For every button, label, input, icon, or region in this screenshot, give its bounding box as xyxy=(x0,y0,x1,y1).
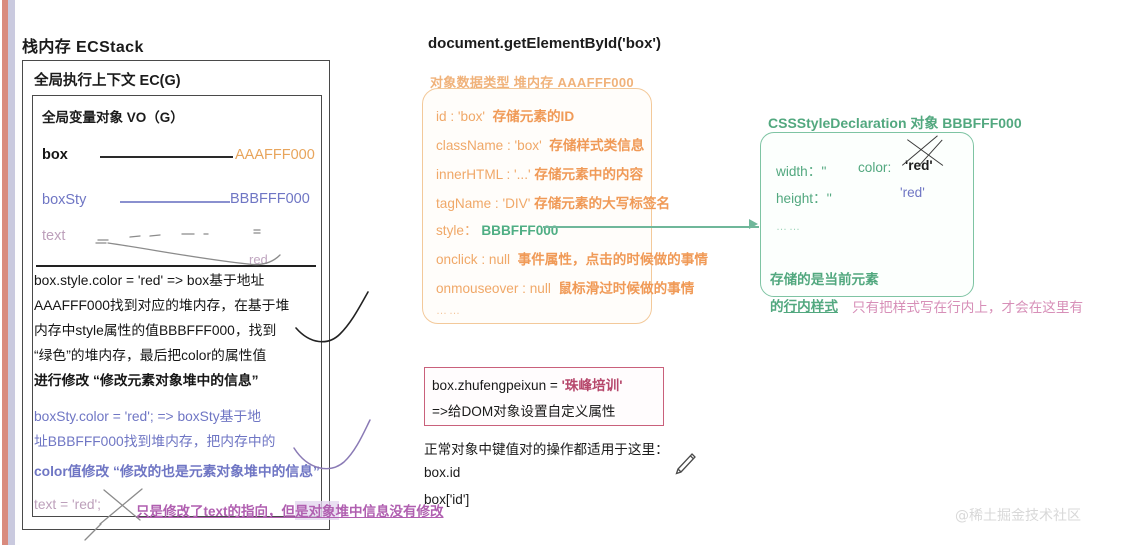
heap-row-innerhtml-desc: 存储元素中的内容 xyxy=(534,167,643,182)
css-color-key: color: xyxy=(858,160,891,175)
css-color-new-value: 'red' xyxy=(900,185,925,200)
heap-row-id-key: id : 'box' xyxy=(436,109,485,124)
variable-box-connector-line xyxy=(100,156,233,158)
heap-row-tagname-key: tagName : 'DIV' xyxy=(436,196,530,211)
heap-row-style-key: style： xyxy=(436,223,478,238)
heap-row-innerhtml-key: innerHTML : '...' xyxy=(436,167,531,182)
keyvalue-intro-text: 正常对象中键值对的操作都适用于这里： xyxy=(424,438,669,458)
note-line-9: text = 'red'; xyxy=(34,492,101,518)
variable-boxsty-address: BBBFFF000 xyxy=(230,191,310,207)
custom-attribute-code-key: box.zhufengpeixun = xyxy=(432,378,562,393)
execution-context-label: 全局执行上下文 EC(G) xyxy=(34,69,181,90)
left-edge-white-stripe xyxy=(15,0,20,545)
note-line-6: boxSty.color = 'red'; => boxSty基于地 xyxy=(34,404,261,430)
heap-row-onmouseover-desc: 鼠标滑过时候做的事情 xyxy=(558,281,694,296)
keyvalue-example-bracket: box['id'] xyxy=(424,492,469,507)
heap-row-tagname: tagName : 'DIV' 存储元素的大写标签名 xyxy=(436,192,670,212)
note-line-1: box.style.color = 'red' => box基于地址 xyxy=(34,268,264,294)
note-line-8: color值修改 “修改的也是元素对象堆中的信息” xyxy=(34,459,320,485)
pencil-icon xyxy=(672,450,698,478)
css-row-height: height：'' xyxy=(776,187,832,207)
css-row-width: width：'' xyxy=(776,160,827,180)
heap-row-onclick-desc: 事件属性，点击的时候做的事情 xyxy=(518,252,708,267)
note-line-2: AAAFFF000找到对应的堆内存，在基于堆 xyxy=(34,293,289,319)
custom-attribute-desc: =>给DOM对象设置自定义属性 xyxy=(432,400,616,420)
dom-get-element-call: document.getElementById('box') xyxy=(428,35,661,52)
heap-row-tagname-desc: 存储元素的大写标签名 xyxy=(534,196,670,211)
variable-box-name: box xyxy=(42,147,68,163)
custom-attribute-code-value: '珠峰培训' xyxy=(562,378,623,393)
variable-boxsty-name: boxSty xyxy=(42,192,86,208)
note-line-5: 进行修改 “修改元素对象堆中的信息” xyxy=(34,368,259,394)
style-to-css-connector-line xyxy=(543,226,759,228)
variable-box-address: AAAFFF000 xyxy=(235,147,315,163)
heap-row-innerhtml: innerHTML : '...' 存储元素中的内容 xyxy=(436,163,643,183)
heap-row-ellipsis: …… xyxy=(436,305,462,317)
css-row-ellipsis: …… xyxy=(776,221,802,233)
watermark-text: @稀土掘金技术社区 xyxy=(955,505,1081,525)
heap-row-classname: className : 'box' 存储样式类信息 xyxy=(436,134,644,154)
note-line-4: “绿色”的堆内存，最后把color的属性值 xyxy=(34,343,266,369)
css-note-underlined: 行内样式 xyxy=(784,299,838,314)
cssstyledeclaration-header: CSSStyleDeclaration 对象 BBBFFF000 xyxy=(768,113,1022,133)
variable-object-divider xyxy=(36,265,316,267)
css-note-prefix: 的 xyxy=(770,299,784,314)
heap-row-classname-key: className : 'box' xyxy=(436,138,542,153)
heap-row-id-desc: 存储元素的ID xyxy=(493,109,575,124)
variable-text-name: text xyxy=(42,228,65,244)
style-to-css-connector-arrow-icon xyxy=(749,219,758,229)
css-pink-note: 只有把样式写在行内上，才会在这里有 xyxy=(852,296,1083,316)
heap-row-style: style： BBBFFF000 xyxy=(436,219,558,239)
note-line-7: 址BBBFFF000找到堆内存，把内存中的 xyxy=(34,429,275,455)
heap-row-classname-desc: 存储样式类信息 xyxy=(549,138,644,153)
diagram-canvas: 栈内存 ECStack 全局执行上下文 EC(G) 全局变量对象 VO（G） b… xyxy=(0,0,1126,545)
keyvalue-example-dot: box.id xyxy=(424,465,460,480)
heap-row-onclick: onclick : null 事件属性，点击的时候做的事情 xyxy=(436,248,708,268)
heap-row-onclick-key: onclick : null xyxy=(436,252,510,267)
css-note-line-2: 的行内样式 xyxy=(770,295,838,315)
css-note-line-1: 存储的是当前元素 xyxy=(770,268,879,288)
left-edge-lavender-stripe xyxy=(8,0,15,545)
heap-row-onmouseover: onmouseover : null 鼠标滑过时候做的事情 xyxy=(436,277,694,297)
bottom-pink-note: 只是修改了text的指向，但是对象堆中信息没有修改 xyxy=(136,500,444,520)
heap-row-id: id : 'box' 存储元素的ID xyxy=(436,105,574,125)
note-line-3: 内存中style属性的值BBBFFF000，找到 xyxy=(34,318,276,344)
heap-row-onmouseover-key: onmouseover : null xyxy=(436,281,551,296)
variable-boxsty-connector-line xyxy=(120,201,230,203)
custom-attribute-code: box.zhufengpeixun = '珠峰培训' xyxy=(432,374,622,394)
stack-memory-title: 栈内存 ECStack xyxy=(22,33,144,57)
variable-object-label: 全局变量对象 VO（G） xyxy=(42,106,184,126)
